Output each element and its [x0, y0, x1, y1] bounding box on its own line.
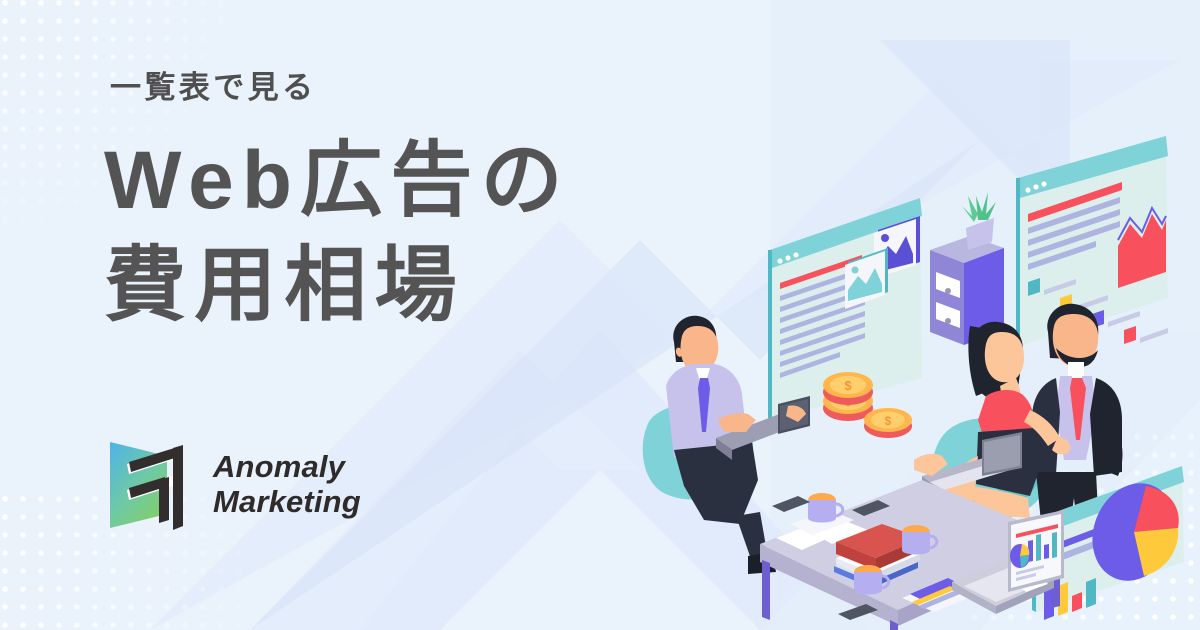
eyebrow-text: 一覧表で見る: [110, 72, 804, 103]
svg-text:$: $: [885, 414, 892, 428]
trousers: [674, 442, 758, 524]
laptop-screen-pie: [1010, 544, 1030, 568]
office-illustration: $ $ $: [630, 120, 1200, 630]
smartphone-1: [772, 496, 810, 512]
brand-logo[interactable]: Anomaly Marketing: [105, 434, 361, 534]
logo-mark-icon: [105, 434, 197, 534]
hero-banner: 一覧表で見る Web広告の 費用相場: [0, 0, 1200, 630]
face: [985, 332, 1024, 382]
logo-name-line-2: Marketing: [213, 484, 361, 519]
logo-wordmark: Anomaly Marketing: [213, 449, 361, 520]
svg-text:$: $: [844, 378, 852, 393]
logo-name-line-1: Anomaly: [213, 449, 361, 484]
